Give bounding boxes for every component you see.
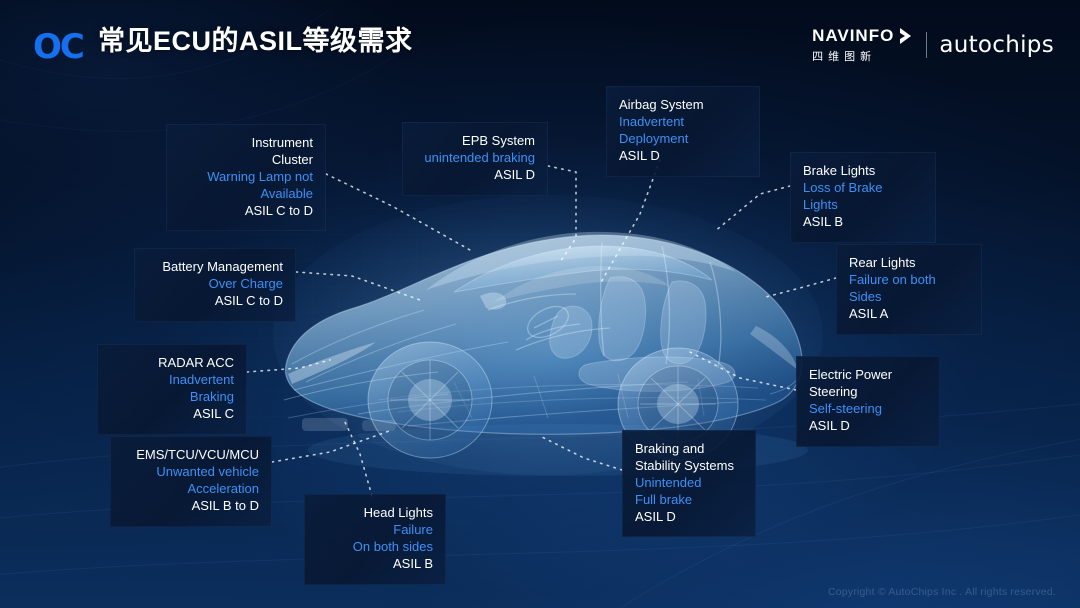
callout-title-line: EMS/TCU/VCU/MCU [123,447,259,464]
callout-hazard-line: unintended braking [415,150,535,167]
callout-title-line: Rear Lights [849,255,969,272]
callout-title-line: Cluster [179,152,313,169]
line-braking-stability [540,436,622,470]
callout-hazard-line: Deployment [619,131,747,148]
callout-hazard-line: Inadvertent [110,372,234,389]
callout-hazard-line: Unwanted vehicle [123,464,259,481]
callout-hazard-line: Warning Lamp not [179,169,313,186]
callout-hazard-line: Available [179,186,313,203]
callout-hazard-line: Failure [317,522,433,539]
callout-title-line: Stability Systems [635,458,743,475]
callout-asil-level: ASIL C to D [147,293,283,310]
line-airbag-system [600,160,660,284]
line-radar-acc [247,360,330,372]
callout-asil-level: ASIL D [619,148,747,165]
callout-epb-system[interactable]: EPB System unintended braking ASIL D [402,122,548,196]
callout-asil-level: ASIL C to D [179,203,313,220]
line-epb-system [548,166,576,262]
callout-hazard-line: Self-steering [809,401,927,418]
callout-asil-level: ASIL D [415,167,535,184]
callout-title-line: Brake Lights [803,163,923,180]
callout-hazard-line: Braking [110,389,234,406]
callout-radar-acc[interactable]: RADAR ACC Inadvertent Braking ASIL C [97,344,247,435]
callout-title-line: Airbag System [619,97,747,114]
callout-asil-level: ASIL B to D [123,498,259,515]
callout-asil-level: ASIL D [809,418,927,435]
callout-hazard-line: Failure on both [849,272,969,289]
callout-hazard-line: Over Charge [147,276,283,293]
callout-asil-level: ASIL D [635,509,743,526]
callout-hazard-line: Full brake [635,492,743,509]
callout-asil-level: ASIL B [317,556,433,573]
callout-title-line: Electric Power [809,367,927,384]
callout-hazard-line: Inadvertent [619,114,747,131]
callout-electric-power-steering[interactable]: Electric Power Steering Self-steering AS… [796,356,940,447]
callout-brake-lights[interactable]: Brake Lights Loss of Brake Lights ASIL B [790,152,936,243]
callout-hazard-line: Loss of Brake [803,180,923,197]
line-brake-lights [714,186,790,232]
callout-title-line: Instrument [179,135,313,152]
callout-battery-management[interactable]: Battery Management Over Charge ASIL C to… [134,248,296,322]
callout-hazard-line: Unintended [635,475,743,492]
line-eps [690,352,796,390]
callout-braking-stability-systems[interactable]: Braking and Stability Systems Unintended… [622,430,756,537]
callout-hazard-line: Sides [849,289,969,306]
callout-title-line: Head Lights [317,505,433,522]
callout-rear-lights[interactable]: Rear Lights Failure on both Sides ASIL A [836,244,982,335]
callout-airbag-system[interactable]: Airbag System Inadvertent Deployment ASI… [606,86,760,177]
line-rear-lights [762,278,836,298]
callout-hazard-line: Lights [803,197,923,214]
callout-asil-level: ASIL B [803,214,923,231]
line-ems-tcu [272,430,392,462]
callout-title-line: EPB System [415,133,535,150]
callout-title-line: Steering [809,384,927,401]
callout-asil-level: ASIL C [110,406,234,423]
callout-asil-level: ASIL A [849,306,969,323]
callout-title-line: Braking and [635,441,743,458]
copyright-footer: Copyright © AutoChips Inc . All rights r… [828,586,1056,598]
callout-title-line: Battery Management [147,259,283,276]
callout-hazard-line: Acceleration [123,481,259,498]
line-battery-management [296,272,420,300]
line-head-lights [344,420,372,496]
callout-title-line: RADAR ACC [110,355,234,372]
callout-head-lights[interactable]: Head Lights Failure On both sides ASIL B [304,494,446,585]
callout-ems-tcu-vcu-mcu[interactable]: EMS/TCU/VCU/MCU Unwanted vehicle Acceler… [110,436,272,527]
slide-canvas: OC 常见ECU的ASIL等级需求 NAVINFO 四维图新 autochips [0,0,1080,608]
callout-instrument-cluster[interactable]: Instrument Cluster Warning Lamp not Avai… [166,124,326,231]
callout-hazard-line: On both sides [317,539,433,556]
